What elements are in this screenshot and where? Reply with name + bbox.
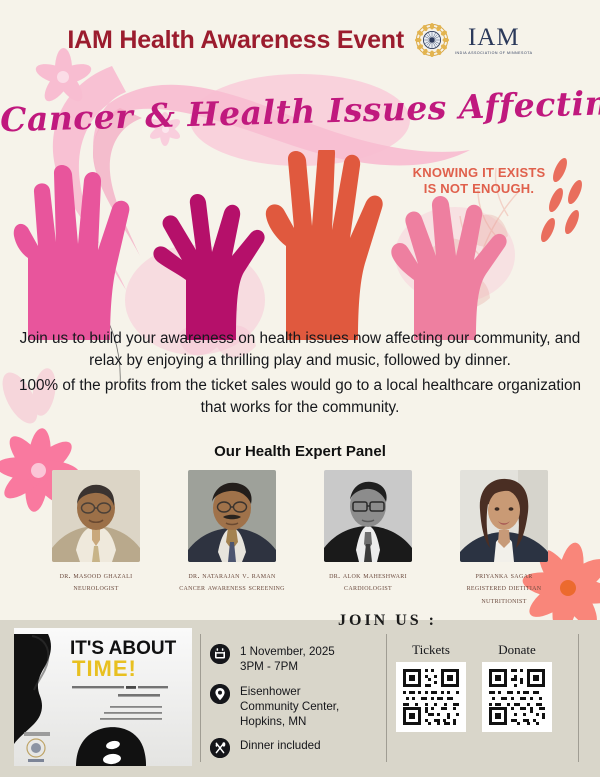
join-us-heading: JOIN US : [338,612,437,630]
tagline: KNOWING IT EXISTS IS NOT ENOUGH. [404,165,554,198]
event-date: 1 November, 2025 [240,644,335,659]
event-subtitle: Cancer & Health Issues Affecting Asians [0,84,600,140]
page-title: IAM Health Awareness Event [67,26,404,55]
expert-role: Cancer Awareness Screening [179,581,285,593]
qr-tickets[interactable]: Tickets [396,642,466,732]
qr-code-icon[interactable] [396,662,466,732]
body-paragraph-1: Join us to build your awareness on healt… [12,328,588,371]
expert-role: Cardiologist [344,581,392,593]
detail-text: Dinner included [240,738,321,753]
detail-text: 1 November, 2025 3PM - 7PM [240,644,335,675]
qr-code-section: Tickets [396,642,576,732]
avatar [52,470,140,562]
expert-name: Dr. Alok Maheshwari [329,569,407,581]
detail-row-date: 1 November, 2025 3PM - 7PM [210,644,370,675]
play-poster-image: IT'S ABOUT TIME! [14,628,192,766]
avatar [460,470,548,562]
body-text: Join us to build your awareness on healt… [12,328,588,419]
qr-code-icon[interactable] [482,662,552,732]
avatar [324,470,412,562]
venue-city: Hopkins, MN [240,714,339,729]
expert-role: Registered Dietitian Nutritionist [449,581,559,606]
expert-card: Dr. Natarajan V. Raman Cancer Awareness … [177,470,287,606]
expert-card: Dr. Masood Ghazali Neurologist [41,470,151,606]
expert-name: Dr. Masood Ghazali [60,569,133,581]
venue-line-2: Community Center, [240,699,339,714]
divider-right [386,634,387,762]
detail-row-location: Eisenhower Community Center, Hopkins, MN [210,684,370,730]
play-title-line-2: TIME! [72,656,137,681]
detail-text: Eisenhower Community Center, Hopkins, MN [240,684,339,730]
avatar [188,470,276,562]
poster-header: IAM Health Awareness Event [0,22,600,58]
qr-label: Donate [498,642,536,658]
expert-role: Neurologist [73,581,118,593]
logo-subtitle: INDIA ASSOCIATION OF MINNESOTA [455,52,533,56]
event-details-band: JOIN US : IT'S ABOUT TIME! [0,620,600,777]
event-poster: IAM Health Awareness Event [0,0,600,777]
qr-donate[interactable]: Donate [482,642,552,732]
panel-heading: Our Health Expert Panel [0,443,600,460]
body-paragraph-2: 100% of the profits from the ticket sale… [12,375,588,418]
cutlery-icon [210,738,230,758]
event-time: 3PM - 7PM [240,659,335,674]
detail-row-dinner: Dinner included [210,738,370,758]
expert-panel-list: Dr. Masood Ghazali Neurologist [0,470,600,606]
location-pin-icon [210,684,230,704]
expert-card: Dr. Alok Maheshwari Cardiologist [313,470,423,606]
event-details-list: 1 November, 2025 3PM - 7PM Eisenhower Co… [210,644,370,767]
tagline-line-1: KNOWING IT EXISTS [404,165,554,181]
dinner-text: Dinner included [240,738,321,753]
calendar-icon [210,644,230,664]
expert-card: Priyanka Sagar Registered Dietitian Nutr… [449,470,559,606]
expert-name: Dr. Natarajan V. Raman [188,569,275,581]
divider-far-right [578,634,579,762]
logo-name: IAM [468,25,520,50]
divider-left [200,634,201,762]
mandala-icon [414,22,450,58]
qr-label: Tickets [412,642,450,658]
expert-name: Priyanka Sagar [475,569,532,581]
tagline-line-2: IS NOT ENOUGH. [404,181,554,197]
venue-name: Eisenhower [240,684,339,699]
iam-logo: IAM INDIA ASSOCIATION OF MINNESOTA [414,22,533,58]
